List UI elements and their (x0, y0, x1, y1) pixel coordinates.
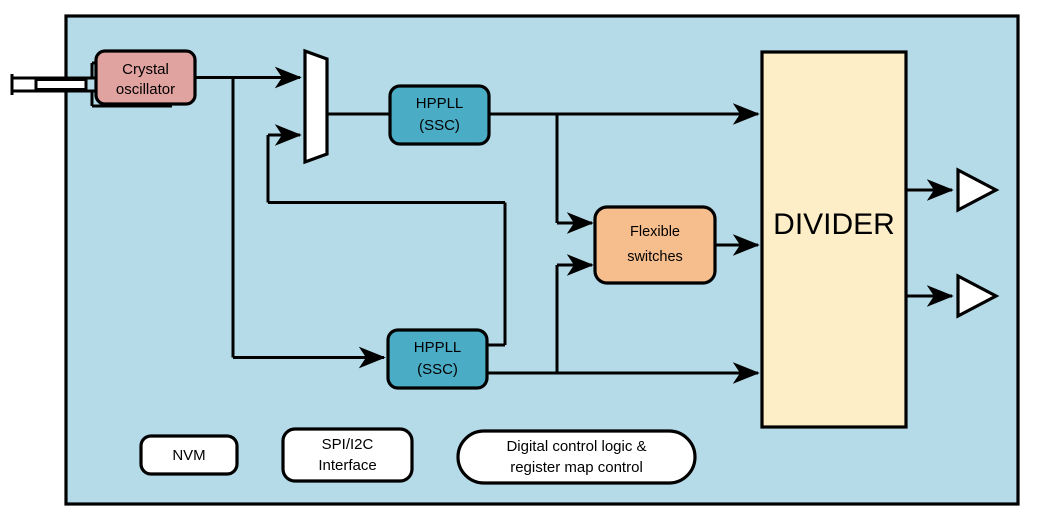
clock-generator-diagram: Crystal oscillator HPPLL (SSC) HPPLL (SS… (0, 0, 1040, 522)
crystal-oscillator-label-line2: oscillator (116, 81, 175, 98)
spi-i2c-label-line1: SPI/I2C (322, 436, 374, 453)
flexible-switches-label-line2: switches (627, 249, 683, 265)
mux-trapezoid-icon[interactable] (305, 51, 327, 162)
crystal-oscillator-label-line1: Crystal (122, 61, 169, 78)
flexible-switches-label-line1: Flexible (630, 224, 680, 240)
divider-label: DIVIDER (773, 208, 895, 241)
hppll-top-label-line2: (SSC) (419, 117, 460, 134)
digital-control-label-line2: register map control (510, 459, 643, 476)
hppll-bottom-label-line2: (SSC) (417, 361, 458, 378)
digital-control-label-line1: Digital control logic & (506, 438, 646, 455)
hppll-bottom-label-line1: HPPLL (414, 339, 462, 356)
block-diagram-canvas: Crystal oscillator HPPLL (SSC) HPPLL (SS… (0, 0, 1040, 522)
hppll-top-label-line1: HPPLL (416, 95, 464, 112)
flexible-switches-block[interactable] (595, 207, 715, 283)
spi-i2c-label-line2: Interface (318, 457, 376, 474)
nvm-label: NVM (172, 447, 205, 464)
